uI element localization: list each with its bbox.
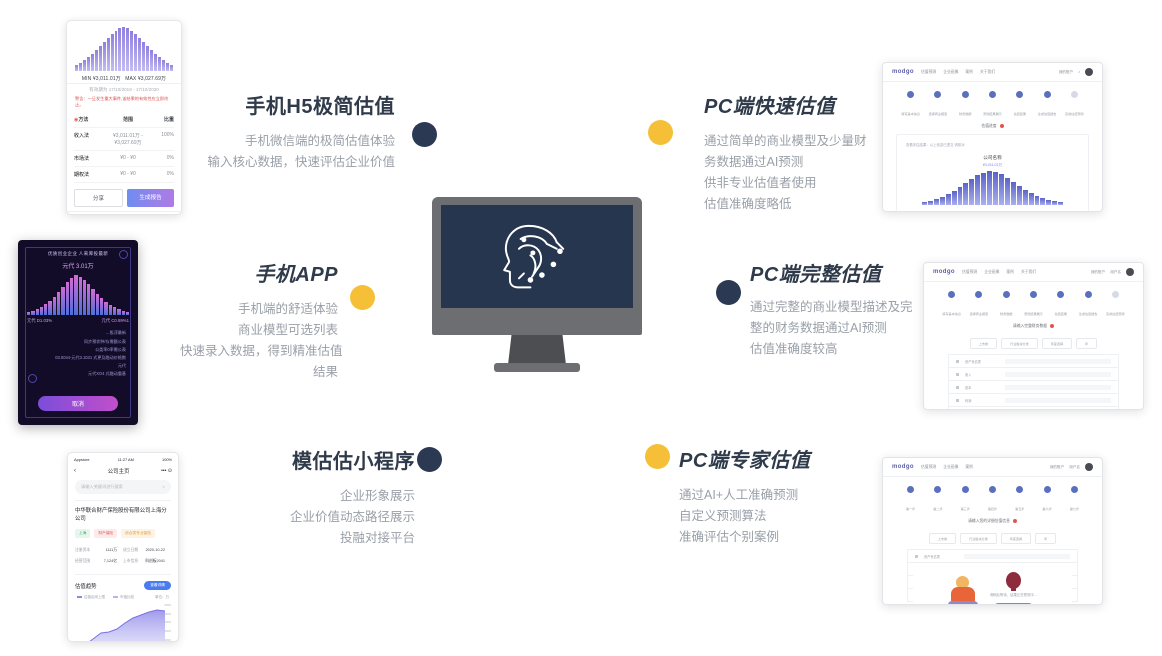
- corner-ring-top-right: [119, 250, 128, 259]
- stepper-caption: 估值进度: [883, 124, 1102, 134]
- h5-valuation-chart: [75, 27, 173, 71]
- brand-logo: modgo: [892, 69, 914, 75]
- fact-row: 成立日期2020-10-22: [123, 545, 171, 556]
- select-industry[interactable]: 行业板块分类: [1001, 338, 1038, 349]
- ai-head-circuit-icon: [496, 216, 578, 298]
- stepper-caption: 请输入完整财务数据: [924, 324, 1143, 334]
- company-name: 中华联合财产保险股份有限公司上海分公司: [75, 507, 171, 523]
- feature-desc-line: 投融对接平台: [230, 528, 415, 549]
- chart-title: 公司名称: [906, 148, 1079, 163]
- avatar[interactable]: [1085, 463, 1093, 471]
- col-range: 范围: [104, 116, 152, 123]
- stepper-caption: 请输入您的详细估值信息: [883, 519, 1102, 529]
- app-primary-button[interactable]: 取消: [38, 396, 118, 411]
- table-row: 期权法 ¥0 - ¥0 0%: [74, 167, 174, 183]
- form-row[interactable]: 利润: [948, 393, 1119, 406]
- feature-title: 手机APP: [180, 258, 338, 287]
- page-title: 公司主页: [108, 467, 130, 475]
- feature-desc-line: 结果: [180, 362, 338, 383]
- account-label[interactable]: 我的账户: [1059, 70, 1073, 75]
- nav-item[interactable]: 估值预测: [921, 465, 936, 470]
- pc-header-right: 我的账户 ♪: [1059, 68, 1093, 76]
- bullet-dot-mobile-app: [350, 285, 375, 310]
- cell-weight: 0%: [152, 155, 174, 162]
- h5-warning-text: 警告：一旦发生重大事件,该结果的有效性应立即终止。: [67, 96, 181, 112]
- nav-item[interactable]: 案例: [965, 70, 973, 75]
- y-axis-ticks: 60005000 40003000 20001000 0: [164, 603, 171, 642]
- col-method: ◉方法: [74, 116, 104, 123]
- generate-report-button[interactable]: 生成报告: [127, 189, 174, 207]
- step-item[interactable]: 填写基本信息: [897, 91, 924, 120]
- h5-valid-period: 有效期为 17/10/2019 - 17/10/2020: [67, 84, 181, 96]
- monitor-illustration: [432, 197, 642, 382]
- alert-dot-icon: [1000, 124, 1004, 128]
- panel-actions: 重新估值 生成估值报告: [906, 205, 1079, 212]
- table-header-row: ◉方法 范围 比重: [74, 112, 174, 128]
- tag-item: 综合类专业保险: [121, 529, 155, 538]
- feature-desc-line: 快速录入数据，得到精准估值: [180, 341, 338, 362]
- share-button[interactable]: 分享: [74, 189, 123, 207]
- nav-item[interactable]: 企业画像: [984, 270, 999, 275]
- fact-row: 上市信息科创板2041: [123, 556, 171, 567]
- form-row[interactable]: 现金流: [948, 406, 1119, 410]
- h5-max-label: MAX ¥3,027.69万: [125, 76, 166, 82]
- monitor-frame: [432, 197, 642, 335]
- step-item[interactable]: 填写基本信息: [938, 291, 965, 320]
- trend-title: 估值趋势: [75, 582, 97, 590]
- step-item[interactable]: 财务数据: [952, 91, 979, 120]
- step-item[interactable]: 完成估值预测: [1061, 91, 1088, 120]
- feature-desc-line: 输入核心数据，快速评估企业价值: [180, 152, 395, 173]
- feature-mobile-app: 手机APP 手机端的舒适体验 商业模型可选列表 快速录入数据，得到精准估值 结果: [180, 258, 338, 383]
- status-bar: Appstore 11:27 AM 100%: [68, 453, 178, 464]
- step-item[interactable]: 第二步: [924, 486, 951, 515]
- h5-tab-bar: ⌂首页 ▮估值 ●报告 ▣用户: [67, 211, 181, 215]
- brand-logo: modgo: [892, 464, 914, 470]
- nav-item[interactable]: 案例: [1006, 270, 1014, 275]
- pc-mockup-expert-valuation: modgo 估值预测 企业画像 案例 我的账户 用户名 第一步 第二步 第三步 …: [882, 457, 1103, 605]
- tag-item: 上海: [75, 529, 90, 538]
- nav-actions[interactable]: ••• ⊙: [161, 468, 172, 474]
- person-meditating-icon: [948, 576, 978, 605]
- nav-item[interactable]: 企业画像: [943, 70, 958, 75]
- back-icon[interactable]: ‹: [74, 468, 76, 474]
- chart-value: ¥3,011.01万: [906, 163, 1079, 171]
- cell-weight: 100%: [152, 132, 174, 146]
- table-row: 市场法 ¥0 - ¥0 0%: [74, 151, 174, 167]
- expand-icon: [956, 360, 959, 363]
- fact-row: 经营范围7,124亿: [75, 556, 123, 567]
- fact-row: 注册资本1111万: [75, 545, 123, 556]
- h5-method-table: ◉方法 范围 比重 收入法 ¥3,011.01万 - ¥3,027.69万 10…: [67, 112, 181, 183]
- feature-mobile-h5: 手机H5极简估值 手机微信端的极简估值体验 输入核心数据，快速评估企业价值: [180, 90, 395, 173]
- cell-method: 收入法: [74, 132, 104, 146]
- pc-header: modgo 估值预测 企业画像 案例 关于我们 我的账户 用户名: [924, 263, 1143, 282]
- step-item[interactable]: 第五步: [1006, 486, 1033, 515]
- corner-ring-bottom-left: [28, 374, 37, 383]
- battery-label: 100%: [162, 457, 172, 462]
- waiting-illustration: 请稍后等待，结果正在预测中… 查看预测结果: [913, 564, 1072, 605]
- feature-desc-line: 通过AI+人工准确预测: [679, 485, 899, 506]
- carrier-label: Appstore: [74, 457, 90, 462]
- nav-bar: ‹ 公司主页 ••• ⊙: [68, 464, 178, 480]
- cell-range: ¥0 - ¥0: [104, 155, 152, 162]
- step-item[interactable]: 估值结果: [1006, 91, 1033, 120]
- nav-item[interactable]: 估值预测: [962, 270, 977, 275]
- pc-nav-menu: 估值预测 企业画像 案例 关于我们: [962, 270, 1036, 275]
- feature-desc-line: 手机微信端的极简估值体验: [180, 131, 395, 152]
- trend-header: 估值趋势 查看详情: [75, 574, 171, 590]
- bullet-dot-mobile-h5: [412, 122, 437, 147]
- feature-mini-program: 模估估小程序 企业形象展示 企业价值动态路径展示 投融对接平台: [230, 445, 415, 549]
- cell-method: 市场法: [74, 155, 104, 162]
- select-year-unit[interactable]: 年: [1035, 533, 1056, 544]
- feature-pc-expert: PC端专家估值 通过AI+人工准确预测 自定义预测算法 准确评估个别案例: [679, 444, 899, 548]
- pc-header-right: 我的账户 用户名: [1050, 463, 1093, 471]
- select-year[interactable]: 年度选择: [1042, 338, 1072, 349]
- pc-mockup-full-valuation: modgo 估值预测 企业画像 案例 关于我们 我的账户 用户名 填写基本信息 …: [923, 262, 1144, 410]
- feature-desc-line: 准确评估个别案例: [679, 527, 899, 548]
- step-item[interactable]: 第三步: [952, 486, 979, 515]
- brand-logo: modgo: [933, 269, 955, 275]
- filter-selects: 上市类 行业板块分类 年度选择 年: [924, 334, 1143, 354]
- h5-minmax-labels: MIN ¥3,011.01万 MAX ¥3,027.69万: [67, 73, 181, 84]
- feature-desc-line: 自定义预测算法: [679, 506, 899, 527]
- chart-unit: 单位：万: [155, 595, 169, 600]
- feature-desc-line: 商业模型可选列表: [180, 320, 338, 341]
- filter-selects: 上市类 行业板块分类 年度选择 年: [883, 529, 1102, 549]
- step-item[interactable]: 预测结果展示: [979, 91, 1006, 120]
- feature-title: PC端专家估值: [679, 444, 899, 473]
- tag-item: 财产保险: [94, 529, 117, 538]
- trend-detail-button[interactable]: 查看详情: [144, 581, 171, 590]
- nav-item[interactable]: 估值预测: [921, 70, 936, 75]
- step-item[interactable]: 第七步: [1061, 486, 1088, 515]
- legend-item: 估值区间上限: [77, 595, 105, 600]
- chart-legend: 估值区间上限 市值比较 单位：万: [68, 590, 178, 600]
- clock-label: 11:27 AM: [118, 457, 134, 462]
- pc-header: modgo 估值预测 企业画像 案例 我的账户 用户名: [883, 458, 1102, 477]
- search-icon: ⌕: [163, 484, 165, 490]
- expand-icon: [956, 386, 959, 389]
- view-result-button[interactable]: 查看预测结果: [993, 603, 1033, 606]
- col-weight: 比重: [152, 116, 174, 123]
- step-item[interactable]: 预测结果展示: [1020, 291, 1047, 320]
- pc-nav-menu: 估值预测 企业画像 案例: [921, 465, 973, 470]
- avatar[interactable]: [1126, 268, 1134, 276]
- nav-item[interactable]: 关于我们: [1021, 270, 1036, 275]
- bullet-dot-pc-full: [716, 280, 741, 305]
- step-item[interactable]: 第一步: [897, 486, 924, 515]
- select-listing-type[interactable]: 上市类: [970, 338, 997, 349]
- stepper: 第一步 第二步 第三步 第四步 第五步 第六步 第七步: [883, 477, 1102, 519]
- legend-item: 市值比较: [113, 595, 134, 600]
- phone-mockup-miniprogram: Appstore 11:27 AM 100% ‹ 公司主页 ••• ⊙ 请输入关…: [67, 452, 179, 642]
- form-row[interactable]: 资产负债表: [907, 549, 1078, 562]
- pc-nav-menu: 估值预测 企业画像 案例 关于我们: [921, 70, 995, 75]
- step-item[interactable]: 选择商业模型: [924, 91, 951, 120]
- pc-header: modgo 估值预测 企业画像 案例 关于我们 我的账户 ♪: [883, 63, 1102, 82]
- company-card: 中华联合财产保险股份有限公司上海分公司 上海 财产保险 综合类专业保险 注册资本…: [75, 500, 171, 567]
- phone-mockup-h5: MIN ¥3,011.01万 MAX ¥3,027.69万 有效期为 17/10…: [66, 20, 182, 215]
- step-item[interactable]: 财务数据: [993, 291, 1020, 320]
- valuation-distribution-chart: [906, 171, 1079, 205]
- stepper: 填写基本信息 选择商业模型 财务数据 预测结果展示 估值结果 生成估值报告 完成…: [883, 82, 1102, 124]
- nav-item[interactable]: 企业画像: [943, 465, 958, 470]
- step-item[interactable]: 生成估值报告: [1033, 91, 1060, 120]
- monitor-stand-base: [494, 363, 580, 372]
- expand-icon: [915, 555, 918, 558]
- bullet-dot-pc-quick: [648, 120, 673, 145]
- step-item[interactable]: 选择商业模型: [965, 291, 992, 320]
- feature-desc-line: 企业价值动态路径展示: [230, 507, 415, 528]
- feature-title: 手机H5极简估值: [180, 90, 395, 119]
- account-label[interactable]: 我的账户: [1050, 465, 1064, 470]
- award-badge-icon: [1006, 572, 1021, 589]
- financial-form: 资产负债表 收入 成本 利润 现金流: [948, 354, 1119, 410]
- step-item[interactable]: 第六步: [1033, 486, 1060, 515]
- form-row[interactable]: 资产负债表: [948, 354, 1119, 367]
- search-placeholder: 请输入关键词进行搜索: [81, 484, 123, 490]
- step-item[interactable]: 第四步: [979, 486, 1006, 515]
- tag-list: 上海 财产保险 综合类专业保险: [75, 523, 171, 545]
- select-year[interactable]: 年度选择: [1001, 533, 1031, 544]
- infographic-canvas: 手机H5极简估值 手机微信端的极简估值体验 输入核心数据，快速评估企业价值 手机…: [0, 0, 1162, 656]
- cell-weight: 0%: [152, 171, 174, 178]
- alert-dot-icon: [1013, 519, 1017, 523]
- app-neon-border: [25, 247, 131, 418]
- step-item[interactable]: 生成估值报告: [1074, 291, 1101, 320]
- h5-min-label: MIN ¥3,011.01万: [82, 76, 121, 82]
- result-panel: 查看评估结果：以上信息已提交 请核对 公司名称 ¥3,011.01万 重新估值 …: [896, 134, 1089, 212]
- cell-method: 期权法: [74, 171, 104, 178]
- select-year-unit[interactable]: 年: [1076, 338, 1097, 349]
- company-facts: 注册资本1111万 成立日期2020-10-22 经营范围7,124亿 上市信息…: [75, 545, 171, 567]
- bullet-dot-mini-program: [417, 447, 442, 472]
- expand-icon: [956, 399, 959, 402]
- user-label[interactable]: 用户名: [1110, 270, 1121, 275]
- cell-range: ¥3,011.01万 - ¥3,027.69万: [104, 132, 152, 146]
- avatar[interactable]: [1085, 68, 1093, 76]
- trend-area-chart: 60005000 40003000 20001000 0: [77, 603, 169, 642]
- feature-desc-line: 企业形象展示: [230, 486, 415, 507]
- cell-range: ¥0 - ¥0: [104, 171, 152, 178]
- account-label[interactable]: 我的账户: [1091, 270, 1105, 275]
- bullet-dot-pc-expert: [645, 444, 670, 469]
- form-row[interactable]: 成本: [948, 380, 1119, 393]
- nav-item[interactable]: 案例: [965, 465, 973, 470]
- feature-title: 模估估小程序: [230, 445, 415, 474]
- select-industry[interactable]: 行业板块分类: [960, 533, 997, 544]
- pc-header-right: 我的账户 用户名: [1091, 268, 1134, 276]
- bell-icon[interactable]: ♪: [1078, 70, 1080, 74]
- step-item[interactable]: 估值结果: [1047, 291, 1074, 320]
- monitor-stand-neck: [508, 335, 566, 365]
- select-listing-type[interactable]: 上市类: [929, 533, 956, 544]
- nav-item[interactable]: 关于我们: [980, 70, 995, 75]
- feature-desc-line: 手机端的舒适体验: [180, 299, 338, 320]
- step-item[interactable]: 完成估值预测: [1102, 291, 1129, 320]
- expand-icon: [956, 373, 959, 376]
- waiting-text: 请稍后等待，结果正在预测中…: [990, 592, 1037, 597]
- search-input[interactable]: 请输入关键词进行搜索 ⌕: [75, 480, 171, 494]
- phone-mockup-app: 优质创业企业 人来库投最新 元代 3.01万 元代 D1.03% 元代 C0.9…: [18, 240, 138, 425]
- form-row[interactable]: 收入: [948, 367, 1119, 380]
- stepper: 填写基本信息 选择商业模型 财务数据 预测结果展示 估值结果 生成估值报告 完成…: [924, 282, 1143, 324]
- user-label[interactable]: 用户名: [1069, 465, 1080, 470]
- alert-dot-icon: [1050, 324, 1054, 328]
- pc-mockup-quick-valuation: modgo 估值预测 企业画像 案例 关于我们 我的账户 ♪ 填写基本信息 选择…: [882, 62, 1103, 212]
- table-row: 收入法 ¥3,011.01万 - ¥3,027.69万 100%: [74, 128, 174, 151]
- h5-action-buttons: 分享 生成报告: [67, 183, 181, 211]
- monitor-screen: [441, 205, 633, 308]
